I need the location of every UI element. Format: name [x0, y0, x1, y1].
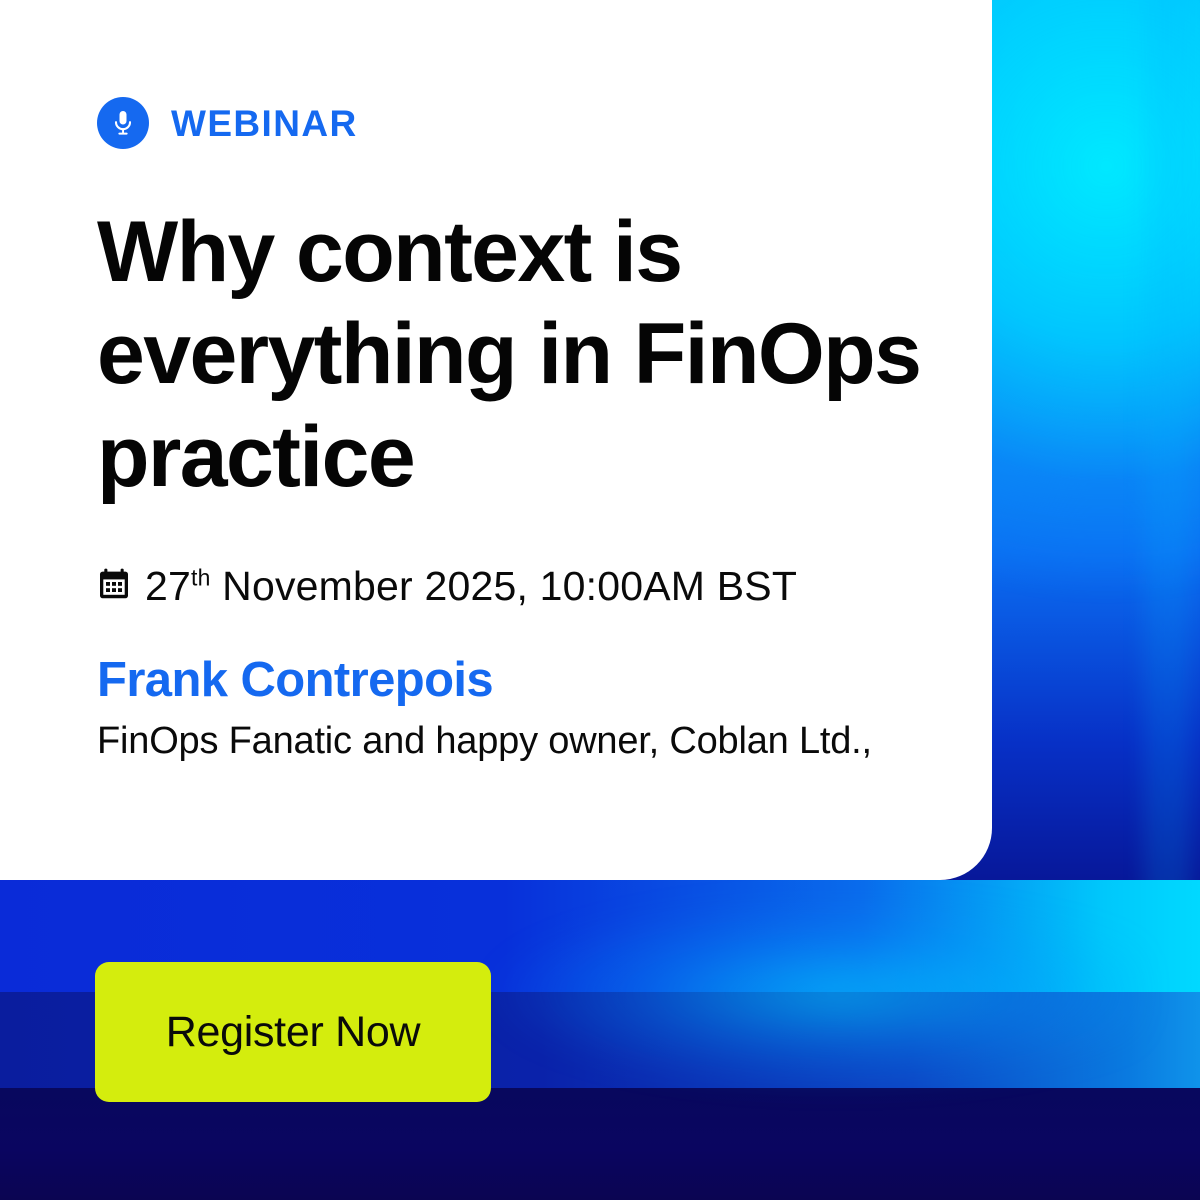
speaker-role: FinOps Fanatic and happy owner, Coblan L…: [97, 720, 932, 764]
speaker-name: Frank Contrepois: [97, 655, 932, 706]
event-datetime-rest: November 2025, 10:00AM BST: [211, 563, 798, 609]
event-datetime: 27th November 2025, 10:00AM BST: [97, 566, 932, 607]
webinar-badge-label: WEBINAR: [171, 105, 358, 142]
microphone-icon: [97, 97, 149, 149]
page-title: Why context is everything in FinOps prac…: [97, 201, 932, 508]
event-datetime-text: 27th November 2025, 10:00AM BST: [145, 566, 797, 607]
background-band-glow: [380, 905, 1140, 1115]
calendar-icon: [97, 567, 131, 606]
content-card: WEBINAR Why context is everything in Fin…: [0, 0, 992, 880]
register-now-button[interactable]: Register Now: [95, 962, 491, 1102]
event-day: 27: [145, 563, 191, 609]
webinar-promo-poster: WEBINAR Why context is everything in Fin…: [0, 0, 1200, 1200]
event-day-suffix: th: [191, 564, 211, 590]
webinar-badge: WEBINAR: [97, 97, 932, 149]
